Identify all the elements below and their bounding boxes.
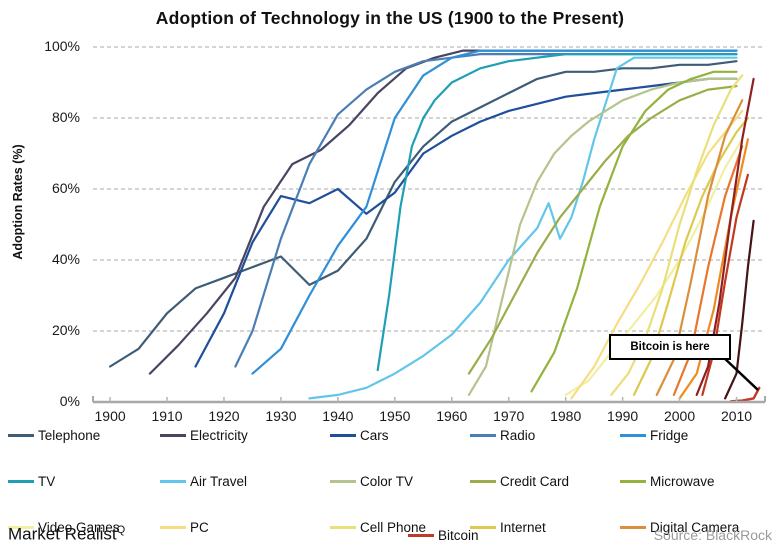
chart-legend: TelephoneElectricityCarsRadioFridgeTVAir… bbox=[8, 428, 780, 520]
market-realist-logo: Market RealistQ bbox=[8, 524, 125, 545]
x-tick-label: 1950 bbox=[365, 408, 425, 424]
brand-mark-icon: Q bbox=[117, 524, 126, 536]
y-tick-label: 20% bbox=[28, 322, 80, 338]
x-tick-label: 2000 bbox=[650, 408, 710, 424]
legend-color-swatch bbox=[8, 434, 34, 437]
legend-color-swatch bbox=[470, 434, 496, 437]
legend-item-telephone[interactable]: Telephone bbox=[8, 428, 100, 443]
x-tick-label: 1990 bbox=[593, 408, 653, 424]
legend-label: Cars bbox=[360, 428, 389, 443]
legend-row: MP3 PlayerHDTVSocial MediaSmartphoneTabl… bbox=[8, 497, 780, 520]
brand-name: Market Realist bbox=[8, 525, 117, 544]
x-tick-label: 1960 bbox=[422, 408, 482, 424]
bitcoin-callout-label: Bitcoin is here bbox=[630, 341, 709, 353]
legend-label: Radio bbox=[500, 428, 535, 443]
legend-item-electricity[interactable]: Electricity bbox=[160, 428, 248, 443]
y-tick-label: 100% bbox=[28, 38, 80, 54]
legend-item-bitcoin: Bitcoin bbox=[408, 528, 479, 543]
legend-label: Fridge bbox=[650, 428, 688, 443]
axis-lines bbox=[93, 396, 765, 402]
bitcoin-callout: Bitcoin is here bbox=[609, 334, 731, 360]
legend-color-swatch bbox=[330, 434, 356, 437]
x-tick-label: 1900 bbox=[80, 408, 140, 424]
y-tick-label: 40% bbox=[28, 251, 80, 267]
legend-color-swatch bbox=[620, 434, 646, 437]
callout-pointer-line bbox=[722, 356, 758, 390]
x-tick-label: 1920 bbox=[194, 408, 254, 424]
legend-row: TVAir TravelColor TVCredit CardMicrowave bbox=[8, 451, 780, 474]
bitcoin-color-swatch bbox=[408, 534, 434, 537]
y-tick-label: 0% bbox=[28, 393, 80, 409]
legend-row: TelephoneElectricityCarsRadioFridge bbox=[8, 428, 780, 451]
legend-label: Telephone bbox=[38, 428, 100, 443]
legend-label: Electricity bbox=[190, 428, 248, 443]
legend-item-cars[interactable]: Cars bbox=[330, 428, 389, 443]
x-tick-label: 1970 bbox=[479, 408, 539, 424]
source-note: Source: BlackRock bbox=[654, 527, 772, 543]
x-tick-label: 1910 bbox=[137, 408, 197, 424]
y-tick-label: 60% bbox=[28, 180, 80, 196]
legend-item-radio[interactable]: Radio bbox=[470, 428, 535, 443]
legend-row: Video GamesPCCell PhoneInternetDigital C… bbox=[8, 474, 780, 497]
x-tick-label: 1930 bbox=[251, 408, 311, 424]
chart-footer: Market RealistQ Bitcoin Source: BlackRoc… bbox=[0, 522, 780, 554]
y-tick-label: 80% bbox=[28, 109, 80, 125]
x-tick-label: 2010 bbox=[707, 408, 767, 424]
legend-item-fridge[interactable]: Fridge bbox=[620, 428, 688, 443]
x-tick-label: 1980 bbox=[536, 408, 596, 424]
x-tick-label: 1940 bbox=[308, 408, 368, 424]
chart-page: Adoption of Technology in the US (1900 t… bbox=[0, 0, 780, 554]
legend-color-swatch bbox=[160, 434, 186, 437]
legend-label-bitcoin: Bitcoin bbox=[438, 528, 479, 543]
